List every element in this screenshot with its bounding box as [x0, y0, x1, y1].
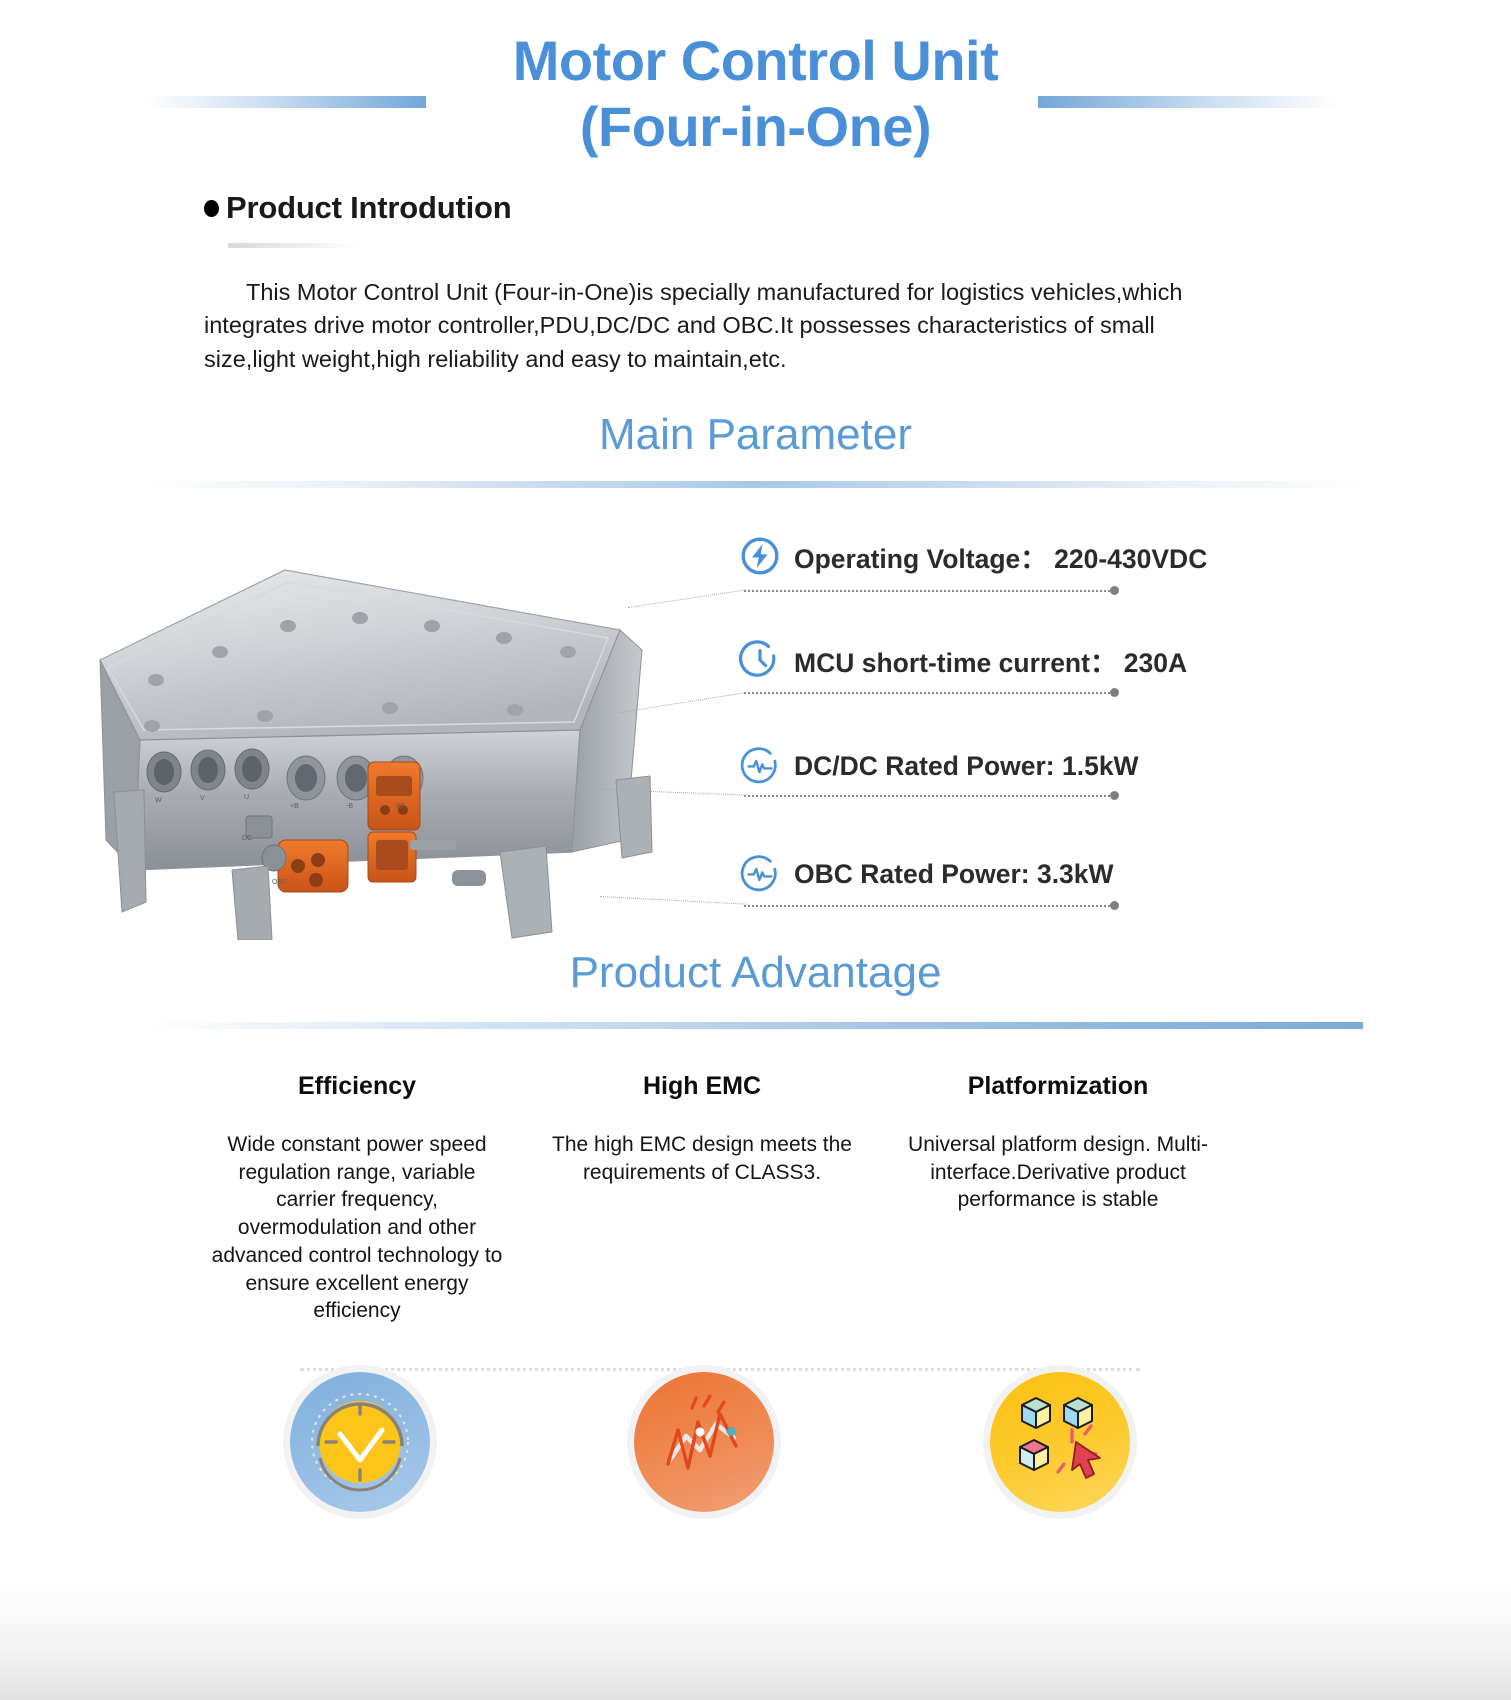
svg-text:OBC: OBC: [272, 879, 287, 886]
parameter-label-dcdc-power: DC/DC Rated Power: 1.5kW: [794, 751, 1139, 782]
page-title-line1: Motor Control Unit: [0, 28, 1511, 94]
leader-dot-2: [1110, 688, 1119, 697]
product-introduction-paragraph: This Motor Control Unit (Four-in-One)is …: [204, 276, 1204, 376]
cubes-cursor-icon: [990, 1372, 1130, 1512]
leader-line-2: [744, 692, 1114, 694]
advantage-column-high-emc: High EMC The high EMC design meets the r…: [552, 1072, 852, 1186]
clock-icon: [738, 638, 782, 682]
parameter-label-operating-voltage: Operating Voltage： 220-430VDC: [794, 537, 1207, 576]
section-rule-product-advantage: [148, 1022, 1363, 1029]
advantage-column-efficiency: Efficiency Wide constant power speed reg…: [207, 1072, 507, 1325]
parameter-label-mcu-current: MCU short-time current： 230A: [794, 641, 1187, 680]
svg-text:-B: -B: [346, 803, 353, 810]
parameter-item-mcu-current: MCU short-time current： 230A: [738, 638, 1187, 682]
pulse-wave-icon: [738, 744, 782, 788]
parameter-item-dcdc-power: DC/DC Rated Power: 1.5kW: [738, 744, 1139, 788]
leader-dot-4: [1110, 901, 1119, 910]
advantage-body-platformization: Universal platform design. Multi-interfa…: [908, 1131, 1208, 1214]
bullet-dot-icon: [204, 200, 219, 217]
advantage-column-platformization: Platformization Universal platform desig…: [908, 1072, 1208, 1214]
page-bottom-fade: [0, 1582, 1511, 1700]
advantage-dotted-connector: [300, 1368, 1140, 1371]
advantage-title-efficiency: Efficiency: [207, 1072, 507, 1101]
product-datasheet-page: Motor Control Unit (Four-in-One) Product…: [0, 0, 1511, 1700]
svg-text:U: U: [244, 794, 249, 801]
svg-text:DC: DC: [242, 835, 252, 842]
advantage-body-high-emc: The high EMC design meets the requiremen…: [552, 1131, 852, 1186]
advantage-body-efficiency: Wide constant power speed regulation ran…: [207, 1131, 507, 1325]
product-introduction-heading: Product Introdution: [204, 190, 511, 226]
leader-line-1: [744, 590, 1114, 592]
leader-dot-1: [1110, 586, 1119, 595]
lightning-bolt-icon: [738, 534, 782, 578]
clock-gauge-icon: [290, 1372, 430, 1512]
leader-dot-3: [1110, 791, 1119, 800]
svg-text:W: W: [155, 797, 162, 804]
svg-text:+B: +B: [290, 803, 299, 810]
svg-text:PE: PE: [396, 803, 406, 810]
parameter-item-obc-power: OBC Rated Power: 3.3kW: [738, 852, 1114, 896]
signal-chart-icon: [634, 1372, 774, 1512]
pulse-wave-icon: [738, 852, 782, 896]
page-title: Motor Control Unit (Four-in-One): [0, 28, 1511, 160]
advantage-title-high-emc: High EMC: [552, 1072, 852, 1101]
section-rule-main-parameter: [148, 481, 1363, 488]
section-title-main-parameter: Main Parameter: [0, 410, 1511, 460]
page-title-line2: (Four-in-One): [0, 94, 1511, 160]
advantage-title-platformization: Platformization: [908, 1072, 1208, 1101]
parameter-label-obc-power: OBC Rated Power: 3.3kW: [794, 859, 1114, 890]
leader-line-4: [744, 905, 1114, 907]
product-introduction-heading-label: Product Introdution: [226, 190, 511, 226]
product-photo: WVU +B-BPE DCOBC: [60, 540, 680, 940]
leader-line-3: [744, 795, 1114, 797]
section-title-product-advantage: Product Advantage: [0, 948, 1511, 998]
parameter-item-operating-voltage: Operating Voltage： 220-430VDC: [738, 534, 1207, 578]
heading-underline: [228, 243, 358, 248]
svg-text:V: V: [200, 795, 205, 802]
